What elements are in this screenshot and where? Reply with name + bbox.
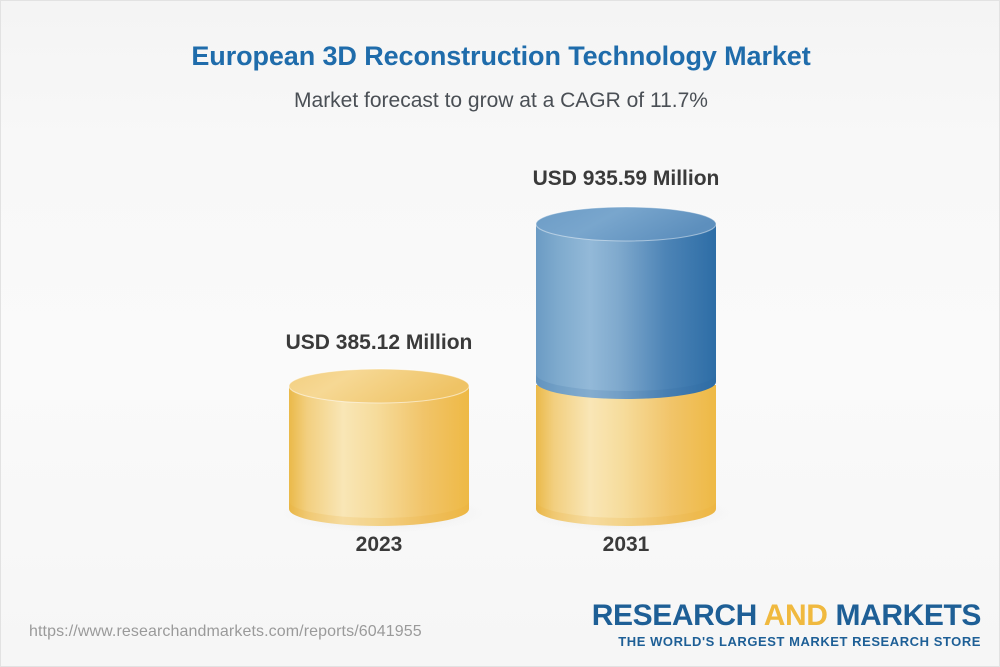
infographic-canvas: European 3D Reconstruction Technology Ma… xyxy=(0,0,1000,667)
category-label-2023: 2023 xyxy=(289,533,469,557)
logo-tagline: THE WORLD'S LARGEST MARKET RESEARCH STOR… xyxy=(592,634,981,650)
logo-word-markets: MARKETS xyxy=(828,599,981,632)
research-and-markets-logo: RESEARCH AND MARKETS THE WORLD'S LARGEST… xyxy=(592,601,981,649)
bar-2031[interactable] xyxy=(526,207,734,533)
logo-word-and: AND xyxy=(764,599,828,632)
logo-word-research: RESEARCH xyxy=(592,599,764,632)
bar-value-label-2023: USD 385.12 Million xyxy=(234,331,524,355)
bar-value-label-2031: USD 935.59 Million xyxy=(481,167,771,191)
bar-2031-segment-growth xyxy=(536,207,716,399)
bar-2023[interactable] xyxy=(279,369,487,533)
category-label-2031: 2031 xyxy=(536,533,716,557)
bar-2031-segment-base xyxy=(536,385,716,526)
source-url[interactable]: https://www.researchandmarkets.com/repor… xyxy=(29,623,422,641)
logo-wordmark: RESEARCH AND MARKETS xyxy=(592,601,981,632)
chart-plot-area: USD 385.12 Million USD 935.59 Million 20… xyxy=(1,1,1000,601)
cylinder-chart-svg xyxy=(1,1,1000,601)
